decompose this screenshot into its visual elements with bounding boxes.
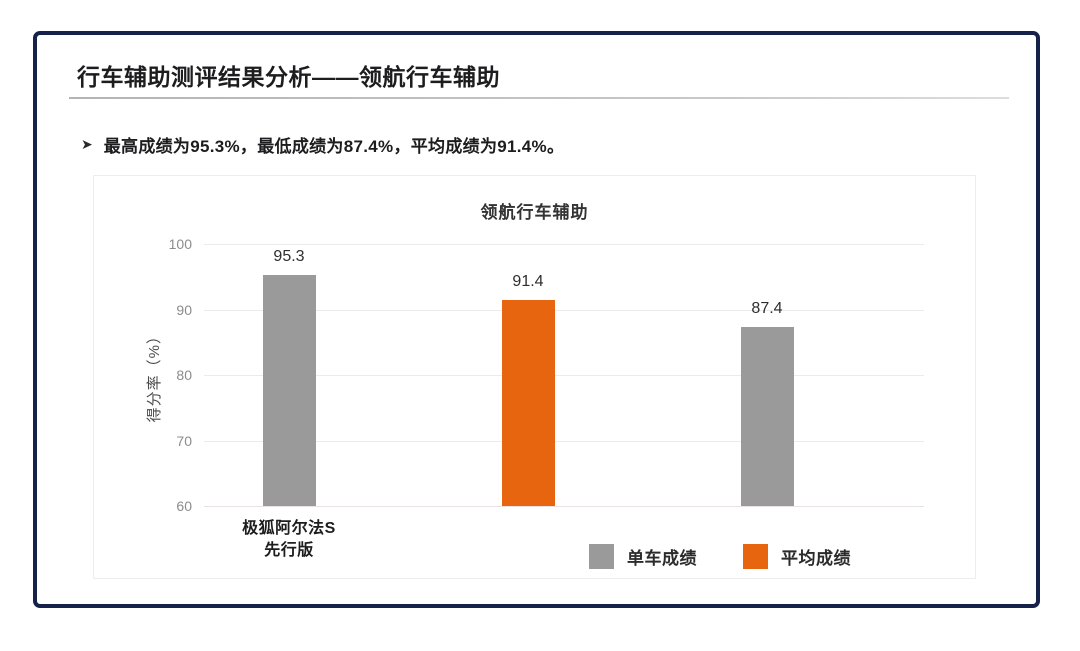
- bar: 95.3: [263, 275, 316, 506]
- bar-value-label: 91.4: [512, 273, 543, 291]
- bullet-row: ➤ 最高成绩为95.3%，最低成绩为87.4%，平均成绩为91.4%。: [81, 132, 564, 157]
- category-label-line: 先行版: [189, 540, 389, 562]
- legend-item[interactable]: 平均成绩: [743, 544, 851, 569]
- bullet-text: 最高成绩为95.3%，最低成绩为87.4%，平均成绩为91.4%。: [104, 132, 565, 157]
- bar: 91.4: [502, 300, 555, 506]
- legend-label: 平均成绩: [781, 544, 851, 569]
- legend-item[interactable]: 单车成绩: [589, 544, 697, 569]
- bar-value-label: 87.4: [751, 300, 782, 318]
- gridline: [204, 244, 924, 245]
- slide-frame: 行车辅助测评结果分析——领航行车辅助 ➤ 最高成绩为95.3%，最低成绩为87.…: [33, 31, 1040, 608]
- bar: 87.4: [741, 327, 794, 506]
- y-axis-tick-label: 80: [176, 367, 192, 383]
- legend-swatch: [743, 544, 768, 569]
- chart-title: 领航行车辅助: [94, 198, 975, 223]
- plot-area: 10090807060 95.391.487.4: [204, 244, 924, 506]
- y-axis-tick-label: 100: [169, 236, 192, 252]
- x-axis-category-label: 极狐阿尔法S先行版: [189, 518, 389, 561]
- legend-label: 单车成绩: [627, 544, 697, 569]
- gridline: [204, 506, 924, 507]
- chart-panel: 领航行车辅助 得分率（%） 10090807060 95.391.487.4 极…: [93, 175, 976, 579]
- y-axis-tick-label: 90: [176, 302, 192, 318]
- arrow-bullet-icon: ➤: [81, 137, 93, 151]
- category-label-line: 极狐阿尔法S: [189, 518, 389, 540]
- y-axis-tick-label: 60: [176, 498, 192, 514]
- chart-legend: 单车成绩平均成绩: [589, 544, 851, 569]
- page-title: 行车辅助测评结果分析——领航行车辅助: [77, 58, 500, 92]
- y-axis-tick-label: 70: [176, 433, 192, 449]
- title-divider: [69, 97, 1009, 99]
- y-axis-title: 得分率（%）: [143, 328, 164, 422]
- legend-swatch: [589, 544, 614, 569]
- bar-value-label: 95.3: [273, 248, 304, 266]
